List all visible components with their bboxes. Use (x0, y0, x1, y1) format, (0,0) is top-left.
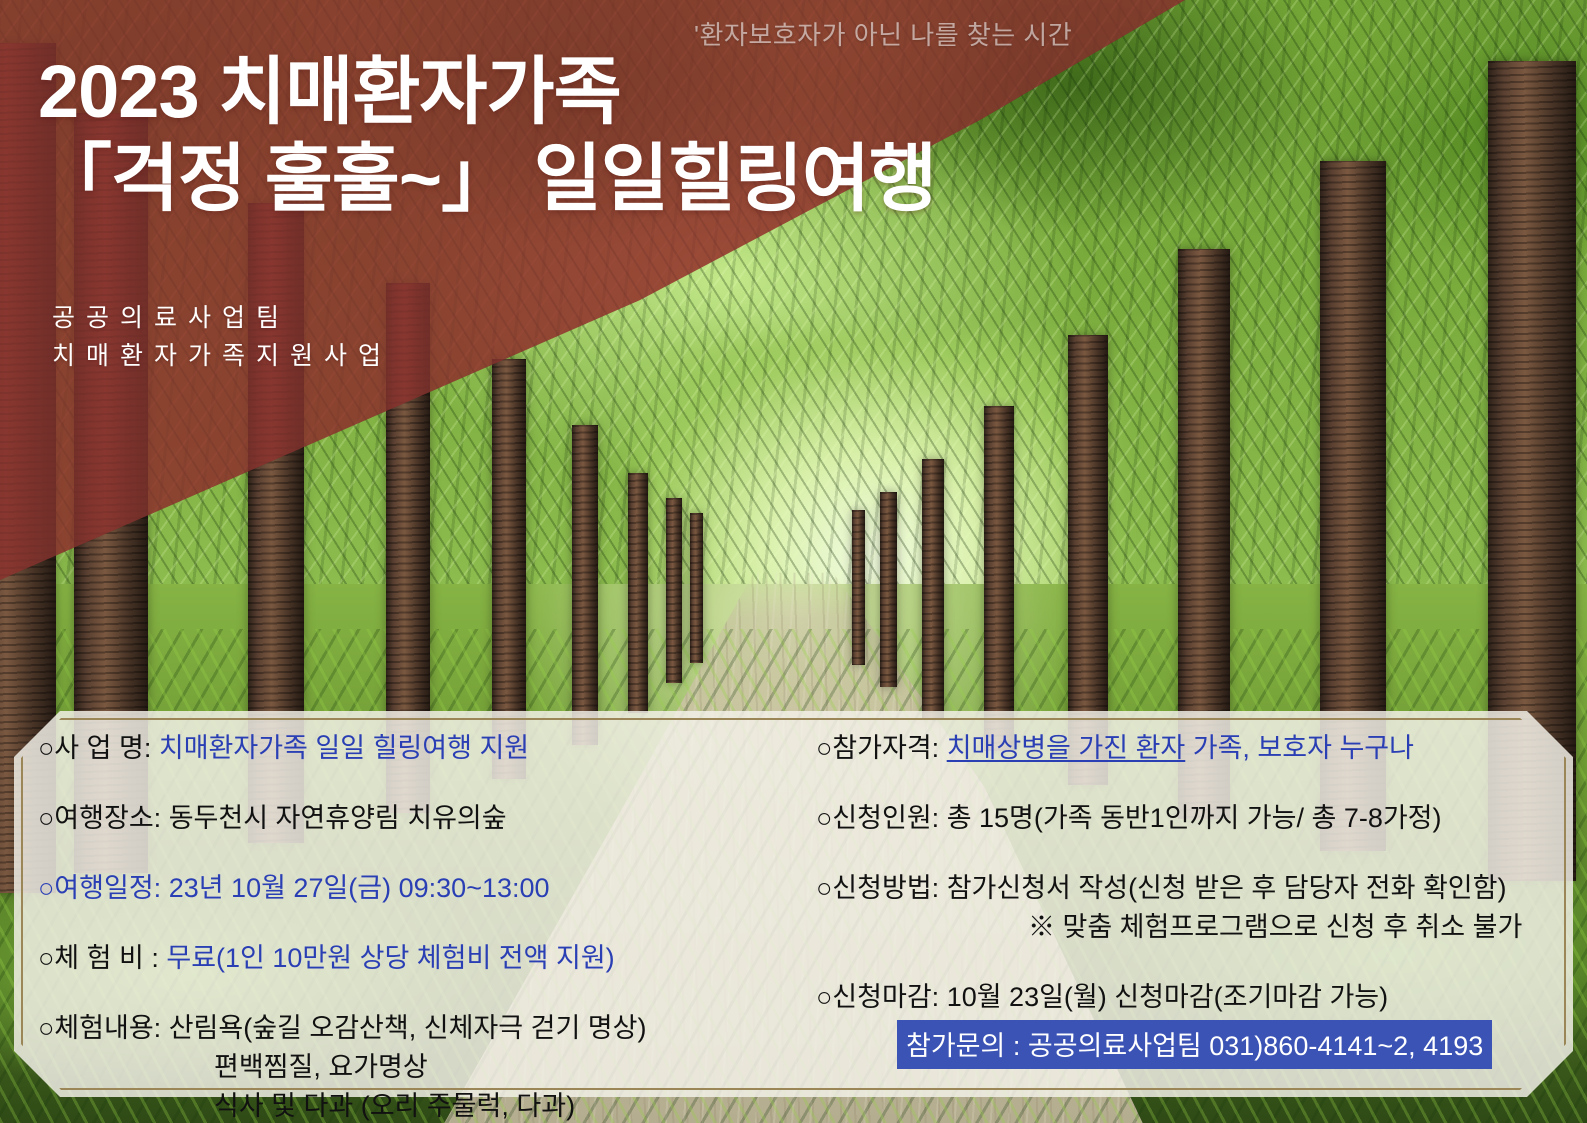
info-item-experience-content: ○체험내용: 산림욕(숲길 오감산책, 신체자극 걷기 명상) 편백찜질, 요가… (38, 1006, 646, 1123)
info-label: ○참가자격: (816, 733, 939, 763)
info-label: ○체 험 비 : (38, 943, 159, 973)
tree-trunk (880, 492, 897, 687)
tree-trunk (852, 510, 865, 665)
tree-trunk (922, 459, 944, 719)
page-title-line-1: 2023 치매환자가족 (38, 50, 621, 133)
info-value-underlined: 치매상병을 가진 환자 (947, 733, 1186, 763)
info-value-extra-line: ※ 맞춤 체험프로그램으로 신청 후 취소 불가 (816, 905, 1522, 944)
organiser-team-line-1: 공공의료사업팀 (52, 304, 290, 332)
info-label: ○여행일정: (38, 873, 161, 903)
info-value: 가족, 보호자 누구나 (1185, 733, 1414, 763)
info-value: 동두천시 자연휴양림 치유의숲 (169, 803, 507, 833)
info-value: 치매환자가족 일일 힐링여행 지원 (159, 733, 529, 763)
contact-inquiry-bar[interactable]: 참가문의 : 공공의료사업팀 031)860-4141~2, 4193 (897, 1020, 1492, 1069)
info-value: 23년 10월 27일(금) 09:30~13:00 (169, 873, 550, 903)
info-label: ○여행장소: (38, 803, 161, 833)
info-item-travel-location: ○여행장소: 동두천시 자연휴양림 치유의숲 (38, 796, 646, 835)
tree-trunk (984, 406, 1014, 751)
info-column-left: ○사 업 명: 치매환자가족 일일 힐링여행 지원 ○여행장소: 동두천시 자연… (38, 726, 646, 1123)
poster-tagline: '환자보호자가 아닌 나를 찾는 시간 (694, 15, 1072, 52)
organiser-team-line-2: 치매환자가족지원사업 (52, 342, 392, 370)
organiser-team: 공공의료사업팀 치매환자가족지원사업 (52, 300, 392, 375)
info-column-right: ○참가자격: 치매상병을 가진 환자 가족, 보호자 누구나 ○신청인원: 총 … (816, 726, 1522, 1014)
info-value: 참가신청서 작성(신청 받은 후 담당자 전화 확인함) (947, 873, 1507, 903)
tree-trunk (572, 425, 598, 745)
info-item-application-deadline: ○신청마감: 10월 23일(월) 신청마감(조기마감 가능) (816, 975, 1522, 1014)
info-item-experience-fee: ○체 험 비 : 무료(1인 10만원 상당 체험비 전액 지원) (38, 936, 646, 975)
tree-trunk (628, 473, 648, 713)
page-title: 2023 치매환자가족 「걱정 훌훌~」 일일힐링여행 (38, 48, 936, 223)
info-value: 산림욕(숲길 오감산책, 신체자극 걷기 명상) (169, 1013, 647, 1043)
info-label: ○신청인원: (816, 803, 939, 833)
info-item-project-name: ○사 업 명: 치매환자가족 일일 힐링여행 지원 (38, 726, 646, 765)
info-value: 무료(1인 10만원 상당 체험비 전액 지원) (166, 943, 614, 973)
info-label: ○체험내용: (38, 1013, 161, 1043)
info-label: ○신청마감: (816, 982, 939, 1012)
info-label: ○신청방법: (816, 873, 939, 903)
poster-canvas: '환자보호자가 아닌 나를 찾는 시간 2023 치매환자가족 「걱정 훌훌~」… (0, 0, 1587, 1123)
info-value-extra-line: 식사 및 다과 (오리 주물럭, 다과) (38, 1084, 646, 1123)
tree-trunk (690, 513, 703, 663)
page-title-line-2: 「걱정 훌훌~」 일일힐링여행 (38, 135, 936, 222)
info-value-extra-line: 편백찜질, 요가명상 (38, 1045, 646, 1084)
info-item-eligibility: ○참가자격: 치매상병을 가진 환자 가족, 보호자 누구나 (816, 726, 1522, 765)
info-label: ○사 업 명: (38, 733, 151, 763)
info-item-participant-count: ○신청인원: 총 15명(가족 동반1인까지 가능/ 총 7-8가정) (816, 796, 1522, 835)
info-value: 총 15명(가족 동반1인까지 가능/ 총 7-8가정) (947, 803, 1442, 833)
info-item-application-method: ○신청방법: 참가신청서 작성(신청 받은 후 담당자 전화 확인함) ※ 맞춤… (816, 866, 1522, 944)
info-item-travel-schedule: ○여행일정: 23년 10월 27일(금) 09:30~13:00 (38, 866, 646, 905)
info-value: 10월 23일(월) 신청마감(조기마감 가능) (947, 982, 1388, 1012)
tree-trunk (666, 498, 682, 683)
